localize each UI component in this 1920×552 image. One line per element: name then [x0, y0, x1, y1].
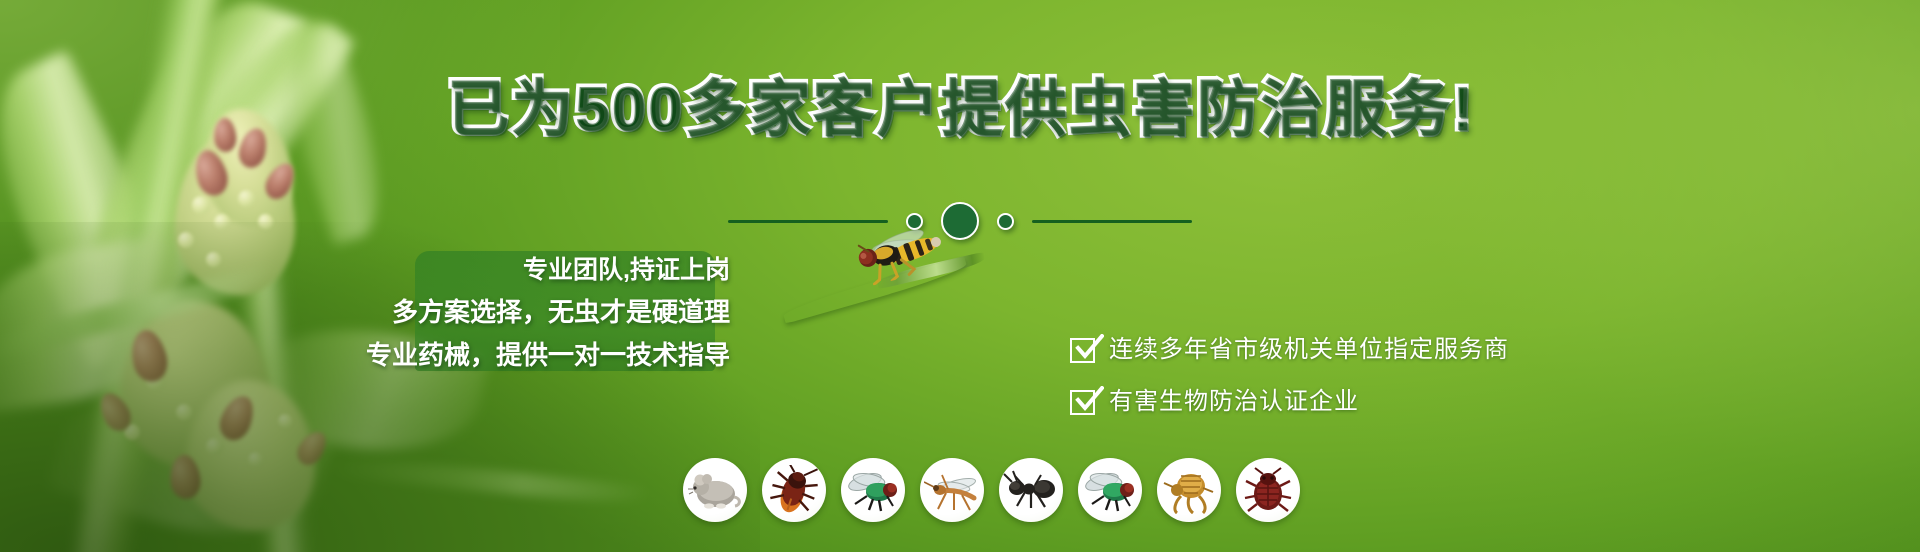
checkmark-icon: [1070, 338, 1095, 363]
bedbug-icon[interactable]: [1236, 458, 1300, 522]
selling-points-list: 专业团队,持证上岗 多方案选择，无虫才是硬道理 专业药械，提供一对一技术指导: [330, 255, 750, 371]
certification-checklist: 连续多年省市级机关单位指定服务商 有害生物防治认证企业: [1070, 337, 1509, 415]
selling-point-2: 多方案选择，无虫才是硬道理: [392, 297, 730, 328]
checklist-item: 有害生物防治认证企业: [1070, 389, 1509, 415]
checkmark-icon: [1070, 390, 1095, 415]
divider-line-right: [1032, 220, 1192, 223]
cockroach-icon[interactable]: [762, 458, 826, 522]
selling-point-3: 专业药械，提供一对一技术指导: [366, 340, 730, 371]
mosquito-icon[interactable]: [920, 458, 984, 522]
divider-dot-small-right: [997, 213, 1014, 230]
checklist-item-label: 有害生物防治认证企业: [1109, 389, 1359, 415]
ant-icon[interactable]: [999, 458, 1063, 522]
flea-icon[interactable]: [1157, 458, 1221, 522]
selling-point-1: 专业团队,持证上岗: [523, 255, 730, 285]
divider-line-left: [728, 220, 888, 223]
fly-icon[interactable]: [841, 458, 905, 522]
checklist-item-label: 连续多年省市级机关单位指定服务商: [1109, 337, 1509, 363]
banner-headline: 已为500多家客户提供虫害防治服务!: [0, 78, 1920, 140]
fly-green-icon[interactable]: [1078, 458, 1142, 522]
mouse-icon[interactable]: [683, 458, 747, 522]
hoverfly-on-grass-blade: [780, 230, 1000, 340]
pest-control-hero-banner: 已为500多家客户提供虫害防治服务! 专业团队,持证上岗 多方案选择，无虫才是硬…: [0, 0, 1920, 552]
banner-headline-text: 已为500多家客户提供虫害防治服务!: [446, 74, 1474, 143]
checklist-item: 连续多年省市级机关单位指定服务商: [1070, 337, 1509, 363]
pest-type-icon-row: [683, 458, 1300, 522]
